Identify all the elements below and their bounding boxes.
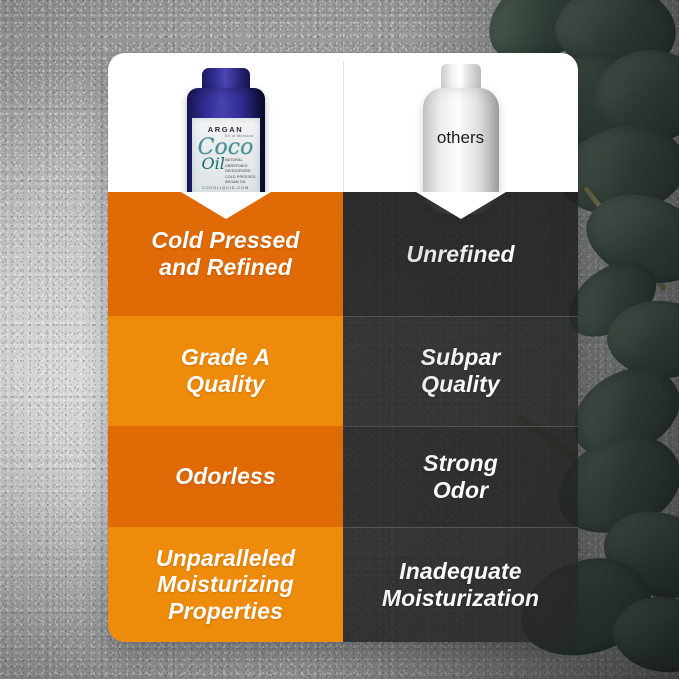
feature-row: SubparQuality (343, 316, 578, 426)
feature-text: UnparalleledMoisturizingProperties (156, 545, 295, 625)
feature-text: Grade AQuality (181, 344, 270, 397)
right-header-panel: others (343, 53, 578, 192)
feature-text: Cold Pressedand Refined (151, 227, 299, 280)
feature-text: Unrefined (406, 241, 514, 268)
argan-coco-oil-bottle: ARGAN Oil of Morocco Coco Oil NATURALUNR… (108, 53, 343, 192)
left-header-notch (181, 192, 271, 219)
feature-row: UnparalleledMoisturizingProperties (108, 527, 343, 642)
right-header-notch (416, 192, 506, 219)
right-feature-rows: Unrefined SubparQuality StrongOdor Inade… (343, 192, 578, 642)
comparison-card: ARGAN Oil of Morocco Coco Oil NATURALUNR… (108, 53, 578, 642)
feature-text: Odorless (175, 463, 276, 490)
others-bottle: others (343, 53, 578, 192)
feature-row: InadequateMoisturization (343, 527, 578, 642)
feature-row: StrongOdor (343, 426, 578, 527)
bottle-brand-text: ARGAN (192, 125, 260, 134)
feature-text: StrongOdor (423, 450, 498, 503)
bottle-label: ARGAN Oil of Morocco Coco Oil NATURALUNR… (192, 118, 260, 196)
column-our-product: ARGAN Oil of Morocco Coco Oil NATURALUNR… (108, 53, 343, 642)
left-header-panel: ARGAN Oil of Morocco Coco Oil NATURALUNR… (108, 53, 343, 192)
feature-text: SubparQuality (421, 344, 501, 397)
bottle-bullet-list: NATURALUNREFINEDDEODORIZEDCOLD PRESSEDAR… (225, 158, 256, 186)
feature-row: Odorless (108, 426, 343, 527)
bottle-label-text: others (423, 128, 499, 148)
bottle-url-text: COCOLIQUID.COM (192, 185, 260, 190)
bottle-script-bottom: Oil (202, 154, 225, 173)
column-others: others Unrefined SubparQuality StrongOdo… (343, 53, 578, 642)
comparison-infographic: ARGAN Oil of Morocco Coco Oil NATURALUNR… (0, 0, 679, 679)
left-feature-rows: Cold Pressedand Refined Grade AQuality O… (108, 192, 343, 642)
feature-row: Grade AQuality (108, 316, 343, 426)
feature-text: InadequateMoisturization (382, 558, 539, 611)
